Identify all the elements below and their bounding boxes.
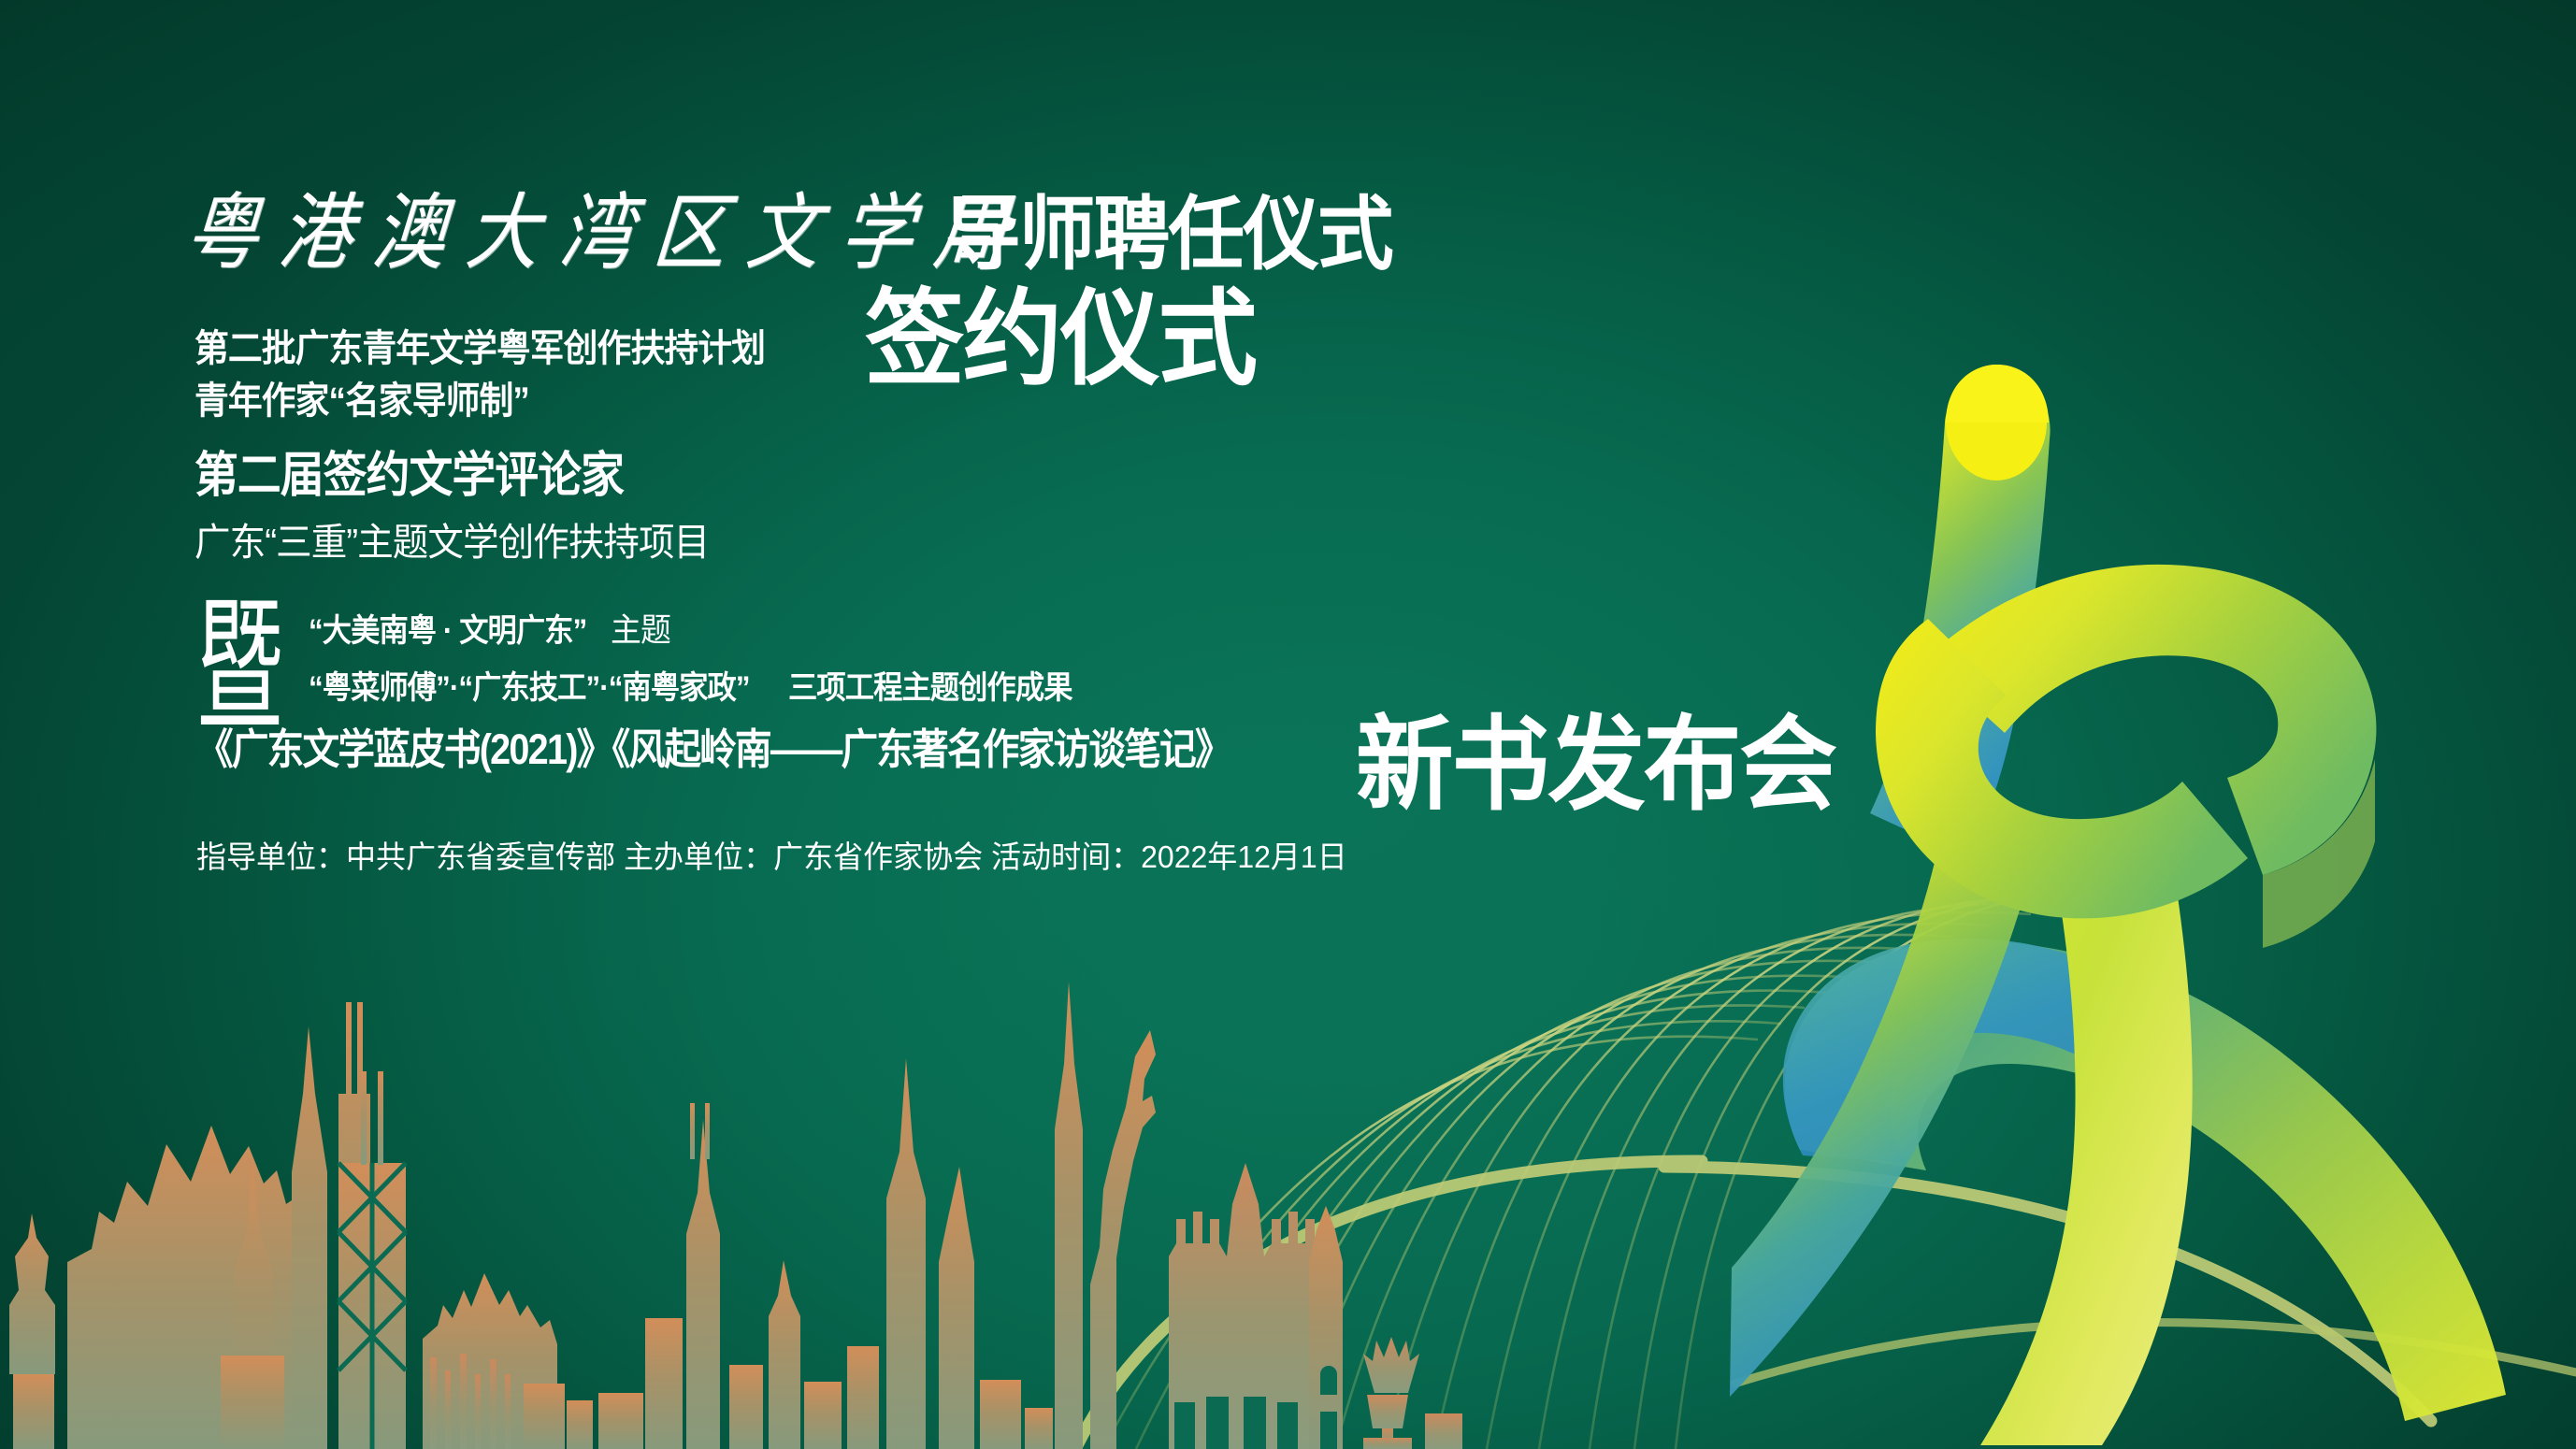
- theme-line-5-suffix: 主题: [611, 604, 670, 652]
- theme-line-6-quoted: “粤菜师傅”·“广东技工”·“南粤家政”: [309, 662, 750, 708]
- theme-line-5-quoted: “大美南粤 · 文明广东”: [309, 605, 586, 651]
- program-line-2: 青年作家“名家导师制”: [194, 370, 529, 424]
- theme-line-5: “大美南粤 · 文明广东”主题: [309, 604, 674, 652]
- headline-signing-ceremony: 签约仪式: [865, 254, 1256, 406]
- footer-credits: 指导单位：中共广东省委宣传部 主办单位：广东省作家协会 活动时间：2022年12…: [196, 832, 1347, 877]
- book-titles-line: 《广东文学蓝皮书(2021)》《风起岭南——广东著名作家访谈笔记》: [196, 715, 1230, 776]
- poster-canvas: 粤港澳大湾区文学周 第二批广东青年文学粤军创作扶持计划 青年作家“名家导师制” …: [0, 0, 2576, 1449]
- theme-line-6-suffix: 三项工程主题创作成果: [788, 662, 1072, 708]
- program-line-4: 广东“三重”主题文学创作扶持项目: [194, 510, 709, 567]
- program-line-3: 第二届签约文学评论家: [194, 436, 624, 506]
- program-line-1: 第二批广东青年文学粤军创作扶持计划: [194, 318, 765, 372]
- theme-line-6: “粤菜师傅”·“广东技工”·“南粤家政”三项工程主题创作成果: [309, 662, 1097, 708]
- poster-text-layer: 粤港澳大湾区文学周 第二批广东青年文学粤军创作扶持计划 青年作家“名家导师制” …: [0, 0, 2576, 1449]
- headline-book-launch: 新书发布会: [1356, 681, 1835, 830]
